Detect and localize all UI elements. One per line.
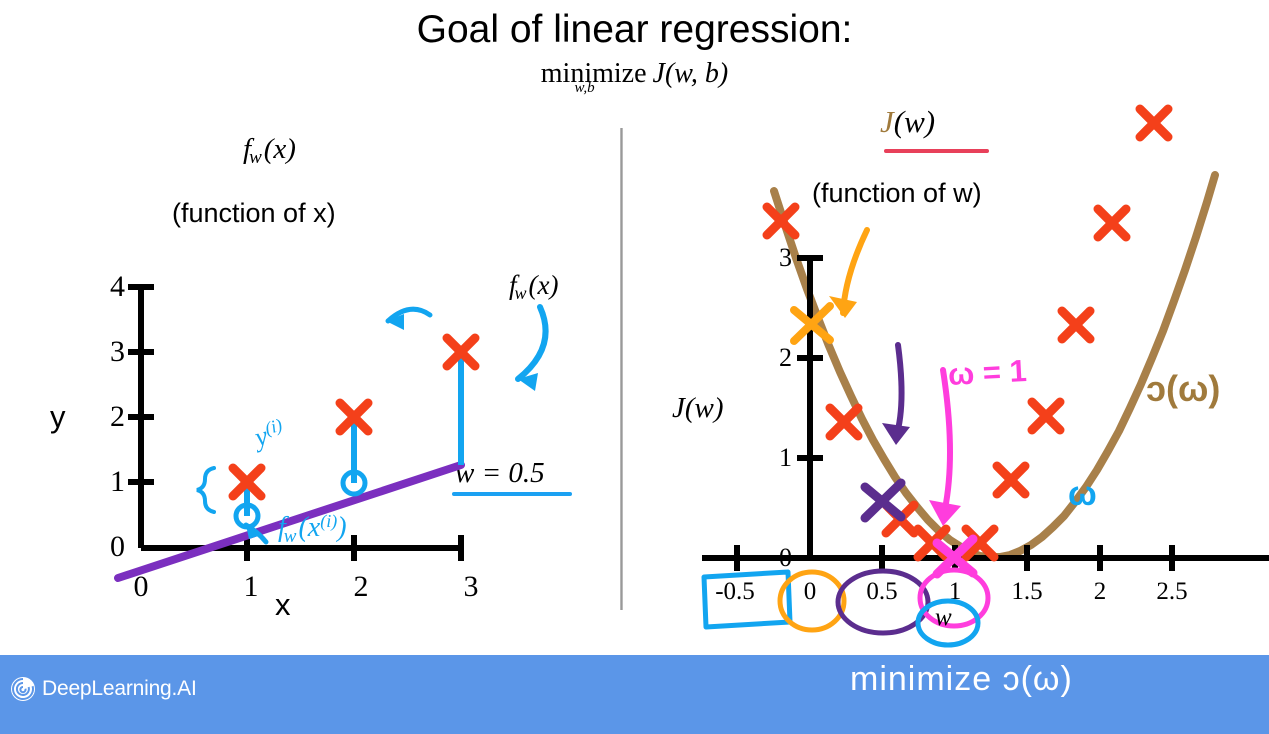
left-header-sub: w [249, 147, 262, 168]
left-header-arg: (x) [264, 133, 296, 165]
right-y-axis-J: J [672, 392, 685, 424]
annotation-arrow-purple [896, 345, 902, 437]
left-panel-subtitle: (function of x) [172, 198, 336, 229]
annotation-arrowhead-purple [882, 423, 910, 445]
brand-logo[interactable]: DeepLearning.AI [10, 676, 197, 702]
annotation-fw-xi-arg: (x [298, 512, 320, 543]
cost-marker-right-3 [1032, 402, 1060, 430]
cost-marker-right-6 [1140, 109, 1168, 137]
objective-expression: minimizew,bJ(w, b) [0, 58, 1269, 90]
annotation-fw-xi-close: ) [337, 512, 346, 543]
left-subtitle-text: (function of x) [172, 198, 336, 228]
x-axis-variable-label: w [935, 604, 952, 632]
cost-marker-right-2 [997, 466, 1025, 494]
slide-root: Goal of linear regression: minimizew,bJ(… [0, 0, 1269, 734]
annotation-w-equals-1: ω = 1 [947, 353, 1028, 393]
annotation-fw-xi-sub: w [284, 526, 297, 547]
footer-bar: DeepLearning.AI [0, 655, 1269, 734]
highlight-box-neg05 [704, 572, 790, 627]
cost-marker-right-5 [1098, 209, 1126, 237]
highlight-circle-05 [838, 571, 928, 633]
annotation-fw-xi: fw(x(i)) [278, 512, 347, 544]
objective-function: J(w, b) [653, 58, 729, 89]
annotation-w-hand: ω [1068, 475, 1097, 514]
brand-text: DeepLearning.AI [42, 677, 197, 701]
footer-handwriting: minimize ɔ(ω) [850, 660, 1073, 699]
left-y-axis-label: y [50, 399, 66, 435]
annotation-fw-xi-sup: (i) [320, 511, 337, 531]
page-title: Goal of linear regression: [0, 8, 1269, 52]
brace-icon [197, 468, 214, 512]
spiral-icon [10, 676, 36, 702]
left-panel-header: fw(x) [243, 133, 296, 166]
sample-marker-w05 [865, 483, 901, 518]
annotation-Jw-hand: ɔ(ω) [1146, 368, 1220, 410]
annotation-arrow-curve-label [518, 307, 546, 379]
cost-marker-left-2 [830, 408, 858, 436]
left-plot-svg [70, 265, 630, 665]
cost-marker-right-4 [1062, 311, 1090, 339]
